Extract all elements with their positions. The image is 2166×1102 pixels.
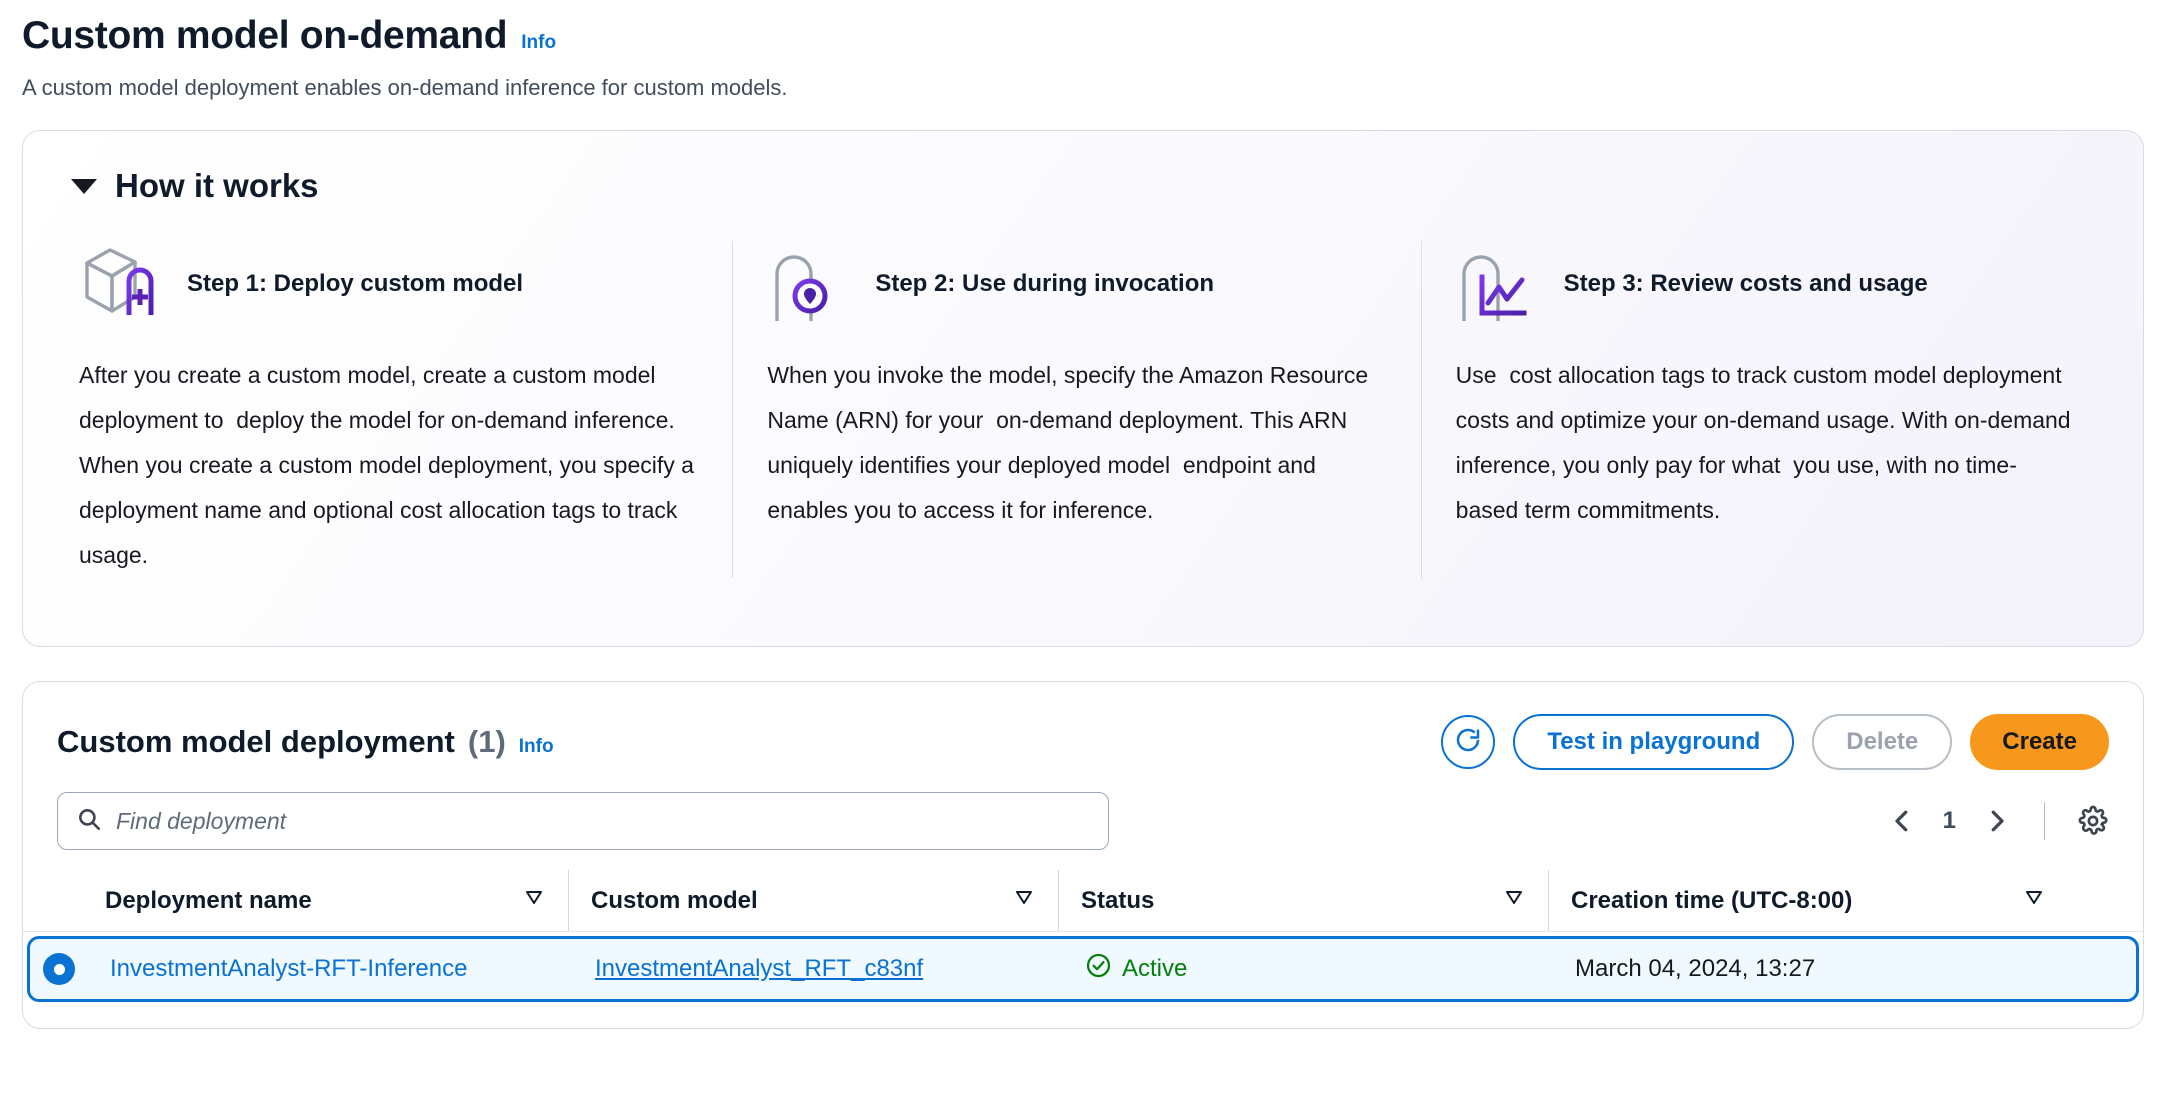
- column-label: Deployment name: [105, 887, 312, 915]
- deployments-table: Deployment name Custom model: [23, 870, 2143, 1002]
- table-row[interactable]: InvestmentAnalyst-RFT-Inference Investme…: [27, 936, 2139, 1002]
- gear-icon[interactable]: [2077, 805, 2109, 837]
- step-1-label: Step 1: Deploy custom model: [187, 270, 523, 298]
- deployment-panel-title: Custom model deployment: [57, 724, 455, 760]
- test-in-playground-button[interactable]: Test in playground: [1513, 714, 1794, 770]
- step-column-3: Step 3: Review costs and usage Use cost …: [1421, 241, 2109, 578]
- deployment-title-group: Custom model deployment (1) Info: [57, 724, 554, 760]
- step-3-label: Step 3: Review costs and usage: [1564, 270, 1928, 298]
- cell-status: Active: [1063, 952, 1553, 986]
- column-header-creation-time[interactable]: Creation time (UTC-8:00): [1548, 870, 2068, 931]
- step-1-header: Step 1: Deploy custom model: [79, 241, 698, 327]
- deployment-actions: Test in playground Delete Create: [1441, 714, 2109, 770]
- deployment-toolbar: Find deployment 1: [23, 770, 2143, 850]
- step-3-header: Step 3: Review costs and usage: [1456, 241, 2075, 327]
- sort-descending-icon[interactable]: [522, 885, 546, 916]
- sort-descending-icon[interactable]: [1012, 885, 1036, 916]
- sort-descending-icon[interactable]: [2022, 885, 2046, 916]
- pagination-page-number[interactable]: 1: [1943, 807, 1956, 835]
- search-icon: [76, 806, 102, 837]
- page-root: Custom model on-demand Info A custom mod…: [0, 0, 2166, 1102]
- step-2-body: When you invoke the model, specify the A…: [767, 353, 1386, 533]
- column-label: Status: [1081, 887, 1154, 915]
- cube-plus-icon: [79, 241, 165, 327]
- pagination-divider: [2044, 802, 2045, 840]
- arch-line-chart-icon: [1456, 241, 1542, 327]
- column-header-deployment-name[interactable]: Deployment name: [83, 870, 568, 931]
- check-circle-icon: [1085, 952, 1112, 986]
- deployment-info-link[interactable]: Info: [519, 736, 554, 758]
- how-it-works-title: How it works: [115, 167, 319, 205]
- page-info-link[interactable]: Info: [521, 32, 556, 54]
- deployment-count: (1): [468, 724, 506, 760]
- row-radio-selected[interactable]: [43, 953, 75, 985]
- create-button[interactable]: Create: [1970, 714, 2109, 770]
- column-label: Custom model: [591, 887, 758, 915]
- cell-custom-model: InvestmentAnalyst_RFT_c83nf: [573, 955, 1063, 983]
- chevron-left-icon[interactable]: [1887, 806, 1917, 836]
- chevron-right-icon[interactable]: [1982, 806, 2012, 836]
- refresh-icon: [1453, 725, 1483, 760]
- creation-time-value: March 04, 2024, 13:27: [1575, 955, 1815, 983]
- page-header: Custom model on-demand Info A custom mod…: [22, 0, 2144, 101]
- caret-down-icon[interactable]: [71, 179, 97, 194]
- column-header-status[interactable]: Status: [1058, 870, 1548, 931]
- page-description: A custom model deployment enables on-dem…: [22, 75, 2144, 101]
- deployment-name-link[interactable]: InvestmentAnalyst-RFT-Inference: [110, 955, 467, 983]
- column-label: Creation time (UTC-8:00): [1571, 887, 1852, 915]
- step-2-header: Step 2: Use during invocation: [767, 241, 1386, 327]
- refresh-button[interactable]: [1441, 715, 1495, 769]
- search-placeholder: Find deployment: [116, 808, 286, 835]
- arch-location-pin-icon: [767, 241, 853, 327]
- step-column-2: Step 2: Use during invocation When you i…: [732, 241, 1420, 578]
- custom-model-deployment-panel: Custom model deployment (1) Info Test in…: [22, 681, 2144, 1029]
- page-title: Custom model on-demand: [22, 14, 507, 58]
- row-select-cell[interactable]: [30, 953, 88, 985]
- status-badge: Active: [1122, 955, 1187, 983]
- cell-creation-time: March 04, 2024, 13:27: [1553, 955, 2073, 983]
- pagination: 1: [1887, 802, 2109, 840]
- sort-descending-icon[interactable]: [1502, 885, 1526, 916]
- title-row: Custom model on-demand Info: [22, 14, 2144, 58]
- cell-deployment-name: InvestmentAnalyst-RFT-Inference: [88, 955, 573, 983]
- table-header-row: Deployment name Custom model: [23, 870, 2143, 932]
- step-column-1: Step 1: Deploy custom model After you cr…: [57, 241, 732, 578]
- search-input[interactable]: Find deployment: [57, 792, 1109, 850]
- column-header-custom-model[interactable]: Custom model: [568, 870, 1058, 931]
- how-it-works-columns: Step 1: Deploy custom model After you cr…: [57, 241, 2109, 578]
- custom-model-link[interactable]: InvestmentAnalyst_RFT_c83nf: [595, 955, 923, 983]
- step-1-body: After you create a custom model, create …: [79, 353, 698, 578]
- how-it-works-header[interactable]: How it works: [71, 167, 2109, 205]
- step-3-body: Use cost allocation tags to track custom…: [1456, 353, 2075, 533]
- how-it-works-card: How it works: [22, 130, 2144, 647]
- step-2-label: Step 2: Use during invocation: [875, 270, 1214, 298]
- delete-button[interactable]: Delete: [1812, 714, 1952, 770]
- deployment-panel-header: Custom model deployment (1) Info Test in…: [23, 706, 2143, 770]
